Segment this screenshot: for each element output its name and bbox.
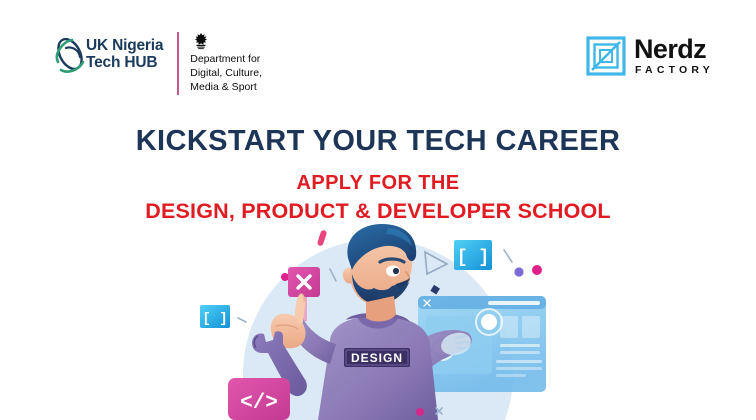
nested-square-icon	[586, 36, 626, 76]
svg-text:[ ]: [ ]	[457, 248, 489, 268]
dot-icon	[514, 267, 523, 276]
svg-text:</>: </>	[240, 392, 278, 415]
dot-icon	[532, 265, 542, 275]
nerdz-wordmark: Nerdz	[634, 36, 714, 63]
dcms-logo: Department for Digital, Culture, Media &…	[177, 32, 262, 95]
hero-illustration: [ ] [ ]	[0, 222, 756, 420]
tick-mark	[504, 250, 512, 262]
code-badge: </>	[228, 378, 290, 420]
swirl-orbit-icon	[52, 32, 88, 78]
character-torso: DESIGN	[318, 313, 438, 420]
nerdz-factory-logo: Nerdz FACTORY	[586, 36, 714, 76]
headline-secondary-line-1: APPLY FOR THE	[0, 172, 756, 195]
dot-icon	[281, 273, 289, 281]
bracket-badge-right: [ ]	[454, 240, 492, 270]
uknt-line-1: UK Nigeria	[86, 38, 163, 55]
hoodie-design-label: DESIGN	[351, 351, 403, 365]
dcms-line-3: Media & Sport	[190, 81, 262, 95]
uknt-line-2: Tech HUB	[86, 55, 163, 72]
dash-icon	[317, 229, 328, 246]
partner-logos-left: UK Nigeria Tech HUB Department for Digit…	[52, 32, 262, 95]
svg-text:[ ]: [ ]	[202, 311, 227, 327]
royal-crest-icon	[190, 32, 212, 50]
nerdz-subtitle: FACTORY	[635, 65, 714, 76]
dot-icon	[416, 408, 424, 416]
poster-header: UK Nigeria Tech HUB Department for Digit…	[0, 0, 756, 118]
uk-nigeria-tech-hub-wordmark: UK Nigeria Tech HUB	[86, 38, 163, 71]
headline-block: KICKSTART YOUR TECH CAREER APPLY FOR THE…	[0, 126, 756, 224]
poster-canvas: UK Nigeria Tech HUB Department for Digit…	[0, 0, 756, 420]
bracket-badge-left: [ ]	[200, 305, 230, 328]
uk-nigeria-tech-hub-logo: UK Nigeria Tech HUB	[52, 32, 163, 78]
headline-secondary-line-2: DESIGN, PRODUCT & DEVELOPER SCHOOL	[0, 199, 756, 224]
dcms-line-1: Department for	[190, 53, 262, 67]
tick-mark	[238, 318, 246, 322]
dcms-line-2: Digital, Culture,	[190, 67, 262, 81]
headline-primary: KICKSTART YOUR TECH CAREER	[0, 126, 756, 158]
illustration-canvas: [ ] [ ]	[0, 222, 756, 420]
